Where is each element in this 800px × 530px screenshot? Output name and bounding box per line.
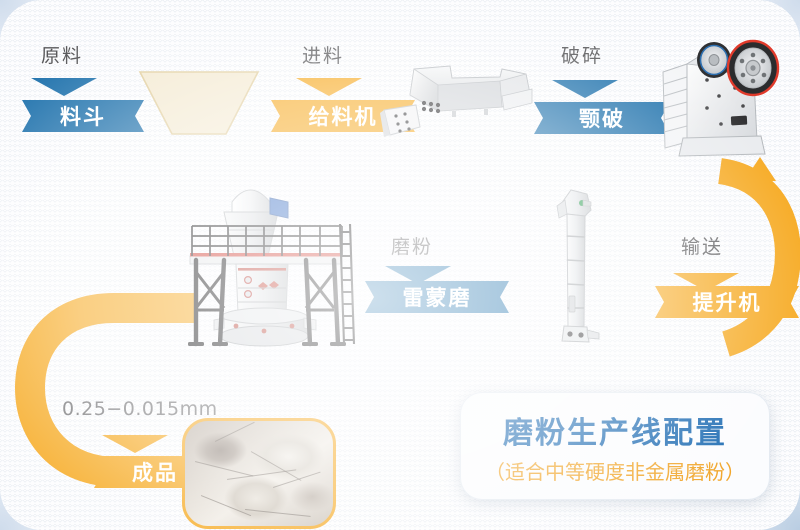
ribbon-bucket-elevator[interactable]: 提升机 — [655, 286, 799, 318]
page-title: 磨粉生产线配置 — [503, 408, 727, 452]
raymond-mill-icon — [170, 168, 360, 353]
chevron-down-icon-finished-product — [102, 434, 168, 454]
jaw-crusher-icon — [657, 30, 800, 160]
stage-label-feeding: 进料 — [302, 41, 344, 68]
chevron-down-icon-crushing — [552, 79, 618, 99]
bucket-elevator-icon — [555, 180, 601, 345]
stage-label-conveying: 输送 — [681, 232, 723, 259]
ribbon-hopper[interactable]: 料斗 — [22, 100, 144, 132]
page-subtitle: （适合中等硬度非金属磨粉） — [485, 456, 745, 485]
chevron-down-icon-raw-material — [31, 77, 97, 97]
chevron-down-icon-feeding — [296, 77, 362, 97]
vibrating-feeder-icon — [380, 55, 555, 155]
stage-label-raw-material: 原料 — [41, 41, 83, 68]
textured-background: 原料 料斗 进料 给料机 — [0, 0, 800, 530]
flowchart-canvas: 原料 料斗 进料 给料机 — [0, 0, 800, 530]
product-size-text: 0.25−0.015mm — [62, 398, 218, 420]
stage-label-grinding: 磨粉 — [391, 232, 433, 259]
stage-label-crushing: 破碎 — [561, 41, 603, 68]
title-card: 磨粉生产线配置 （适合中等硬度非金属磨粉） — [460, 392, 770, 500]
hopper-icon — [138, 70, 260, 136]
powder-sample-icon — [182, 418, 336, 529]
ribbon-jaw-crusher[interactable]: 颚破 — [534, 102, 670, 134]
ribbon-raymond-mill[interactable]: 雷蒙磨 — [365, 281, 509, 313]
